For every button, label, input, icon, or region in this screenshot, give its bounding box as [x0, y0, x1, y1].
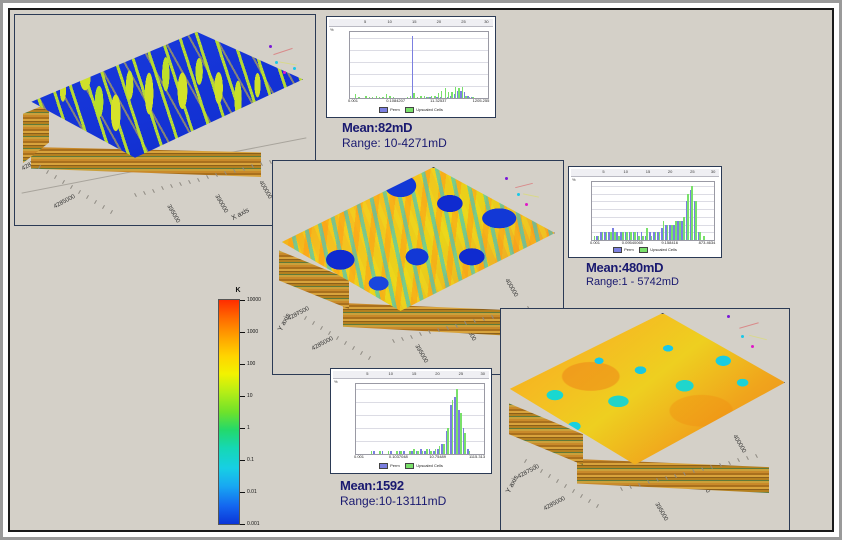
legend-swatch-upscaled: [405, 463, 414, 469]
color-legend-tick-label: 1: [247, 425, 250, 431]
hist-top-axis-strip-2: 5 10 15 20 25 30: [571, 169, 719, 177]
histogram-window-3[interactable]: 5 10 15 20 25 30 % 510152025 Perm Upscal…: [330, 368, 492, 474]
well-head: [283, 71, 286, 74]
hist-bar-perm: [441, 444, 443, 454]
color-legend-tick-mark: [240, 460, 245, 461]
hist-bar-perm: [625, 232, 627, 240]
hist-xtick-top: 15: [412, 19, 416, 24]
hist-bar-perm: [620, 232, 622, 240]
stats-caption-smooth: Mean:1592 Range:10-13111mD: [340, 478, 446, 508]
hist-bar-upscaled: [365, 96, 366, 98]
stats-caption-mottled: Mean:480mD Range:1 - 5742mD: [586, 260, 679, 288]
hist-bar-upscaled: [426, 449, 428, 454]
legend-label-upscaled: Upscaled Cells: [416, 463, 443, 468]
hist-bar-perm: [616, 232, 618, 240]
hist-gridline: [356, 415, 484, 416]
hist-bar-upscaled: [382, 97, 383, 98]
hist-xtick-top: 30: [481, 371, 485, 376]
hist-bar-upscaled: [447, 428, 449, 454]
hist-bar-perm: [411, 451, 413, 454]
color-legend-tick-label: 0.001: [247, 521, 260, 527]
hist-bar-perm: [424, 451, 426, 454]
hist-bar-upscaled: [376, 96, 377, 98]
hist-bar-upscaled: [413, 449, 415, 454]
stats-range: Range: 10-4271mD: [342, 136, 447, 150]
hist-bar-upscaled: [675, 221, 677, 240]
hist-bar-perm: [454, 397, 456, 454]
hist-legend-2: Perm Upscaled Cells: [571, 247, 719, 253]
hist-bar-perm: [629, 232, 631, 240]
legend-label-perm: Perm: [390, 463, 400, 468]
hist-bar-perm: [641, 232, 643, 240]
hist-gridline: [356, 402, 484, 403]
hist-top-axis-strip-1: 5 10 15 20 25 30: [329, 19, 493, 27]
hist-bar-upscaled: [691, 186, 693, 240]
hist-bar-upscaled: [379, 451, 381, 454]
hist-bar-perm: [673, 225, 675, 240]
hist-bar-perm: [677, 221, 679, 240]
legend-swatch-upscaled: [405, 107, 414, 113]
hist-xtick-bottom-label: 9.158416: [661, 240, 678, 245]
hist-gridline: [350, 86, 488, 87]
model-panel-smooth[interactable]: Y axis 4287500 4285000 395000 390000 400…: [500, 308, 790, 530]
well-head: [751, 345, 754, 348]
hist-bar-upscaled: [358, 97, 359, 98]
hist-bar-perm: [450, 96, 451, 98]
hist-gridline: [592, 186, 714, 187]
hist-bar-perm: [457, 91, 458, 98]
hist-bar-perm: [649, 232, 651, 240]
hist-bar-upscaled: [671, 225, 673, 240]
hist-xtick-top: 20: [437, 19, 441, 24]
hist-bar-upscaled: [602, 232, 604, 240]
hist-bar-perm: [604, 232, 606, 240]
hist-gridline: [356, 428, 484, 429]
hist-xtick-bottom-label: 0.001: [348, 98, 358, 103]
hist-legend-1: Perm Upscaled Cells: [329, 107, 493, 113]
histogram-window-1[interactable]: 5 10 15 20 25 30 % 1020304050 Perm Upsca…: [326, 16, 496, 118]
hist-xtick-bottom-label: 0.09540065: [622, 240, 643, 245]
x-tick-label: 395000: [165, 204, 180, 224]
stats-mean: Mean:480mD: [586, 260, 679, 275]
hist-plot-area-1: 1020304050: [349, 31, 489, 99]
hist-xtick-bottom-label: 0.001: [590, 240, 600, 245]
hist-bar-upscaled: [452, 400, 454, 454]
hist-bar-upscaled: [409, 451, 411, 454]
color-legend-tick-mark: [240, 428, 245, 429]
hist-bar-upscaled: [634, 232, 636, 240]
hist-gridline: [356, 389, 484, 390]
hist-xtick-top: 25: [690, 169, 694, 174]
hist-bar-perm: [426, 97, 427, 98]
hist-ylabel-1: %: [330, 27, 334, 32]
hist-bar-upscaled: [618, 236, 620, 240]
hist-bar-perm: [420, 449, 422, 454]
hist-bar-perm: [665, 225, 667, 240]
x-axis-label: X axis: [230, 207, 250, 222]
hist-bar-upscaled: [679, 221, 681, 240]
block-side-front: [577, 459, 769, 493]
hist-xtick-top: 30: [484, 19, 488, 24]
hist-bar-upscaled: [422, 451, 424, 454]
hist-bar-perm: [657, 232, 659, 240]
hist-bar-perm: [681, 221, 683, 240]
hist-xtick-top: 20: [668, 169, 672, 174]
legend-swatch-perm: [379, 463, 388, 469]
hist-bar-upscaled: [464, 433, 466, 454]
figure-outer-frame: 4287500 4285000 395000 390000 400000 X a…: [0, 0, 842, 540]
stats-range: Range:1 - 5742mD: [586, 276, 679, 288]
hist-xtick-top: 10: [387, 19, 391, 24]
axis-tick: [368, 356, 371, 360]
stats-caption-channels: Mean:82mD Range: 10-4271mD: [342, 120, 447, 150]
legend-swatch-perm: [379, 107, 388, 113]
histogram-window-2[interactable]: 5 10 15 20 25 30 % 2468101214 Perm Upsca…: [568, 166, 722, 258]
hist-bar-upscaled: [407, 97, 408, 98]
hist-bar-perm: [458, 410, 460, 454]
hist-bar-perm: [637, 232, 639, 240]
hist-gridline: [350, 38, 488, 39]
hist-bar-upscaled: [606, 232, 608, 240]
figure-canvas: 4287500 4285000 395000 390000 400000 X a…: [10, 10, 832, 530]
hist-bar-perm: [373, 451, 375, 454]
color-legend-tick-label: 1000: [247, 329, 258, 335]
hist-gridline: [350, 74, 488, 75]
hist-xtick-top: 20: [435, 371, 439, 376]
hist-bar-upscaled: [651, 236, 653, 240]
hist-bar-perm: [454, 94, 455, 98]
legend-label-perm: Perm: [390, 107, 400, 112]
hist-bar-perm: [464, 92, 465, 98]
well-head: [517, 193, 520, 196]
hist-plot-area-3: 510152025: [355, 383, 485, 455]
axis-tick: [102, 205, 105, 209]
well-head: [293, 67, 296, 70]
hist-legend-3: Perm Upscaled Cells: [333, 463, 489, 469]
hist-bar-upscaled: [614, 232, 616, 240]
axis-tick: [94, 200, 97, 204]
color-legend-tick-label: 10: [247, 393, 253, 399]
hist-bar-perm: [460, 91, 461, 98]
hist-bar-perm: [416, 451, 418, 454]
hist-bar-upscaled: [371, 451, 373, 454]
hist-bar-perm: [698, 232, 700, 240]
color-legend-tick-label: 10000: [247, 297, 261, 303]
hist-xtick-top: 10: [624, 169, 628, 174]
hist-xtick-bottom-label: 1115.313: [469, 454, 485, 459]
color-legend-tick-mark: [240, 492, 245, 493]
hist-bar-perm: [686, 201, 688, 240]
color-legend-tick-label: 0.1: [247, 457, 254, 463]
hist-bar-upscaled: [439, 446, 441, 454]
hist-bar-upscaled: [663, 221, 665, 240]
hist-bar-upscaled: [460, 413, 462, 454]
color-legend-title: K: [209, 287, 267, 294]
hist-xtick-bottom-label: 0.1084207: [386, 98, 405, 103]
hist-xtick-top: 15: [646, 169, 650, 174]
hist-xtick-bottom-label: 10.75489: [429, 454, 446, 459]
color-legend[interactable]: K 1000010001001010.10.010.001: [209, 287, 267, 530]
histogram-inner-2: 5 10 15 20 25 30 % 2468101214 Perm Upsca…: [571, 169, 719, 255]
hist-bar-upscaled: [699, 232, 701, 240]
hist-bar-perm: [690, 190, 692, 240]
hist-bar-perm: [694, 201, 696, 240]
hist-bar-upscaled: [420, 96, 421, 98]
hist-bar-perm: [446, 431, 448, 454]
well-head: [741, 335, 744, 338]
hist-xtick-top: 5: [366, 371, 368, 376]
hist-ylabel-3: %: [334, 379, 338, 384]
hist-xtick-bottom-label: 0.1037048: [389, 454, 408, 459]
hist-bar-upscaled: [369, 97, 370, 98]
hist-xtick-top: 5: [602, 169, 604, 174]
hist-bar-perm: [467, 96, 468, 98]
hist-xtick-top: 15: [412, 371, 416, 376]
legend-label-perm: Perm: [624, 247, 634, 252]
hist-bar-perm: [612, 228, 614, 240]
hist-xtick-top: 5: [364, 19, 366, 24]
hist-gridline: [592, 194, 714, 195]
hist-bar-upscaled: [417, 451, 419, 454]
hist-bar-upscaled: [610, 232, 612, 240]
color-legend-tick-mark: [240, 364, 245, 365]
hist-bar-upscaled: [417, 97, 418, 98]
hist-bar-perm: [633, 232, 635, 240]
hist-bar-upscaled: [695, 201, 697, 240]
hist-bar-upscaled: [683, 217, 685, 240]
hist-bar-upscaled: [626, 232, 628, 240]
stats-mean: Mean:82mD: [342, 120, 447, 135]
hist-bar-perm: [669, 225, 671, 240]
color-legend-tick-mark: [240, 524, 245, 525]
color-legend-ramp: [218, 299, 240, 525]
stats-range: Range:10-13111mD: [340, 494, 446, 508]
color-legend-tick-label: 0.01: [247, 489, 257, 495]
legend-label-upscaled: Upscaled Cells: [416, 107, 443, 112]
hist-top-axis-strip-3: 5 10 15 20 25 30: [333, 371, 489, 379]
color-legend-tick-mark: [240, 396, 245, 397]
hist-gridline: [350, 50, 488, 51]
hist-xtick-top: 25: [461, 19, 465, 24]
hist-bar-upscaled: [667, 225, 669, 240]
hist-bar-upscaled: [659, 232, 661, 240]
hist-bar-perm: [450, 405, 452, 454]
color-legend-tick-label: 100: [247, 361, 255, 367]
legend-swatch-upscaled: [639, 247, 648, 253]
scene-channels: 4287500 4285000 395000 390000 400000 X a…: [15, 15, 315, 225]
hist-bar-upscaled: [379, 97, 380, 98]
hist-bar-upscaled: [413, 93, 414, 98]
hist-bar-upscaled: [630, 232, 632, 240]
hist-xtick-top: 30: [711, 169, 715, 174]
hist-gridline: [350, 62, 488, 63]
hist-bar-upscaled: [655, 232, 657, 240]
hist-bar-upscaled: [441, 91, 442, 98]
hist-bar-upscaled: [372, 97, 373, 98]
hist-bar-perm: [382, 451, 384, 454]
histogram-inner-3: 5 10 15 20 25 30 % 510152025 Perm Upscal…: [333, 371, 489, 471]
hist-xtick-bottom-label: 11.32537: [430, 98, 446, 103]
well-head: [269, 45, 272, 48]
model-panel-channels[interactable]: 4287500 4285000 395000 390000 400000 X a…: [14, 14, 316, 226]
hist-plot-area-2: 2468101214: [591, 181, 715, 241]
stats-mean: Mean:1592: [340, 478, 446, 493]
hist-bar-perm: [653, 232, 655, 240]
hist-bar-perm: [661, 228, 663, 240]
hist-bar-upscaled: [646, 228, 648, 240]
hist-bar-perm: [600, 232, 602, 240]
reservoir-block: [507, 313, 787, 513]
hist-bar-perm: [412, 36, 413, 98]
well-head: [505, 177, 508, 180]
hist-xtick-bottom-label: 0.001: [354, 454, 364, 459]
hist-bar-perm: [447, 97, 448, 98]
axis-tick: [110, 210, 113, 214]
color-legend-tick-mark: [240, 332, 245, 333]
hist-bar-upscaled: [456, 389, 458, 454]
well-head: [727, 315, 730, 318]
legend-swatch-perm: [613, 247, 622, 253]
legend-label-upscaled: Upscaled Cells: [650, 247, 677, 252]
hist-ylabel-2: %: [572, 177, 576, 182]
histogram-inner-1: 5 10 15 20 25 30 % 1020304050 Perm Upsca…: [329, 19, 493, 115]
hist-bar-perm: [608, 232, 610, 240]
hist-xtick-top: 10: [388, 371, 392, 376]
hist-bar-perm: [463, 428, 465, 454]
reservoir-block: [23, 29, 305, 201]
hist-xtick-bottom-label: 873.4634: [699, 240, 716, 245]
scene-smooth: Y axis 4287500 4285000 395000 390000 400…: [501, 309, 789, 530]
color-legend-tick-mark: [240, 300, 245, 301]
well-head: [275, 61, 278, 64]
well-head: [525, 203, 528, 206]
hist-bar-perm: [645, 236, 647, 240]
hist-xtick-bottom-label: 1205.255: [473, 98, 490, 103]
figure-inner-frame: 4287500 4285000 395000 390000 400000 X a…: [8, 8, 834, 532]
hist-xtick-top: 25: [459, 371, 463, 376]
hist-bar-upscaled: [622, 232, 624, 240]
hist-bar-upscaled: [687, 194, 689, 240]
hist-bar-upscaled: [443, 444, 445, 454]
